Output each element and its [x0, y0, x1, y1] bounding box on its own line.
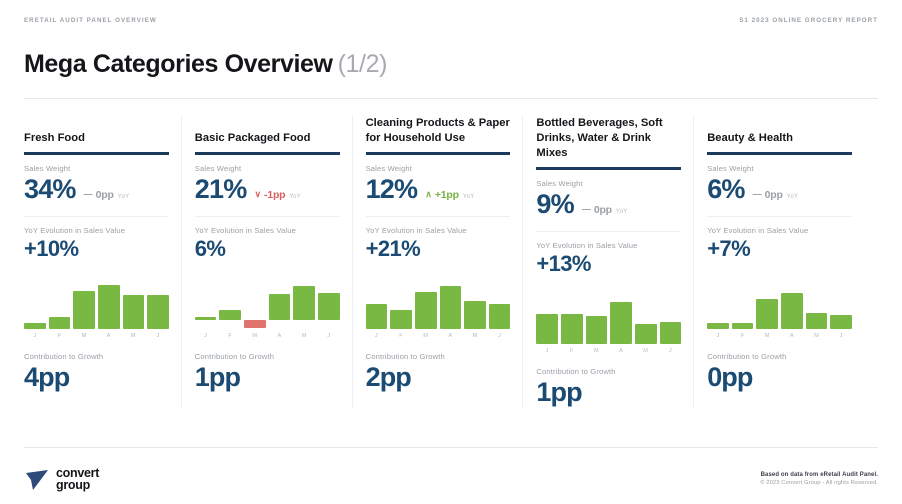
- bar-cell: [24, 281, 46, 329]
- sales-weight-label: Sales Weight: [24, 164, 169, 173]
- bar-cell: [269, 281, 291, 329]
- category-column-3: Bottled Beverages, Soft Drinks, Water & …: [536, 116, 707, 409]
- bar-F-1: [732, 323, 754, 329]
- bar-J-0: [195, 317, 217, 320]
- metric-divider: [536, 231, 681, 232]
- delta-yoy-tag: YoY: [118, 194, 130, 200]
- eyebrow-right: S1 2023 ONLINE GROCERY REPORT: [739, 17, 878, 24]
- contribution-label: Contribution to Growth: [24, 352, 169, 361]
- sales-weight-label: Sales Weight: [536, 179, 681, 188]
- delta-flat-icon: —: [84, 190, 93, 199]
- bar-M-4: [806, 313, 828, 329]
- page-title-block: Mega Categories Overview(1/2): [24, 26, 878, 99]
- copyright-note: © 2023 Convert Group - All rights Reserv…: [760, 480, 878, 486]
- bar-cell: [244, 281, 266, 329]
- contribution-value: 4pp: [24, 362, 169, 393]
- contribution-label: Contribution to Growth: [536, 367, 681, 376]
- axis-tick-5: J: [318, 333, 340, 339]
- axis-tick-2: M: [586, 348, 608, 354]
- monthly-sparkline-chart: JFMAMJ: [536, 296, 681, 358]
- bar-cell: [536, 296, 558, 344]
- contribution-value: 0pp: [707, 362, 852, 393]
- yoy-evolution-value: +21%: [366, 236, 511, 261]
- sales-weight-label: Sales Weight: [195, 164, 340, 173]
- month-axis-labels: JFMAMJ: [707, 333, 852, 339]
- axis-tick-2: M: [244, 333, 266, 339]
- page-title: Mega Categories Overview: [24, 50, 333, 78]
- bar-cell: [415, 281, 437, 329]
- delta-yoy-tag: YoY: [289, 194, 301, 200]
- yoy-evolution-label: YoY Evolution in Sales Value: [366, 226, 511, 235]
- delta-up-icon: ∧: [425, 190, 432, 199]
- bar-J-5: [318, 293, 340, 320]
- bar-cell: [293, 281, 315, 329]
- bar-cell: [390, 281, 412, 329]
- monthly-sparkline-chart: JFMAMJ: [195, 281, 340, 343]
- bar-M-2: [415, 292, 437, 330]
- bar-cell: [756, 281, 778, 329]
- category-underline: [24, 152, 169, 155]
- bar-group: [707, 281, 852, 329]
- sales-weight-value: 9%: [536, 190, 573, 220]
- delta-yoy-tag: YoY: [787, 194, 799, 200]
- bar-cell: [660, 296, 682, 344]
- axis-tick-3: A: [781, 333, 803, 339]
- metric-divider: [24, 216, 169, 217]
- category-column-0: Fresh FoodSales Weight34%—0ppYoYYoY Evol…: [24, 116, 195, 409]
- bar-cell: [781, 281, 803, 329]
- column-divider: [522, 116, 523, 409]
- yoy-evolution-value: +10%: [24, 236, 169, 261]
- yoy-evolution-value: +13%: [536, 251, 681, 276]
- footer-attribution: Based on data from eRetail Audit Panel. …: [760, 472, 878, 486]
- axis-tick-5: J: [660, 348, 682, 354]
- bar-cell: [73, 281, 95, 329]
- month-axis-labels: JFMAMJ: [536, 348, 681, 354]
- sales-weight-label: Sales Weight: [707, 164, 852, 173]
- bar-J-5: [660, 322, 682, 344]
- bar-F-1: [390, 310, 412, 330]
- category-title: Cleaning Products & Paper for Household …: [366, 116, 511, 146]
- title-divider: [24, 98, 878, 99]
- delta-value: +1pp: [435, 189, 459, 201]
- bar-M-4: [635, 324, 657, 344]
- axis-tick-1: F: [49, 333, 71, 339]
- sales-weight-delta: —0ppYoY: [753, 189, 799, 201]
- contribution-label: Contribution to Growth: [366, 352, 511, 361]
- bar-cell: [49, 281, 71, 329]
- axis-tick-4: M: [123, 333, 145, 339]
- bar-cell: [440, 281, 462, 329]
- category-underline: [707, 152, 852, 155]
- yoy-evolution-value: +7%: [707, 236, 852, 261]
- delta-yoy-tag: YoY: [616, 209, 628, 215]
- delta-value: -1pp: [264, 189, 285, 201]
- report-page: ERETAIL AUDIT PANEL OVERVIEW S1 2023 ONL…: [0, 0, 902, 504]
- bar-cell: [586, 296, 608, 344]
- bar-A-3: [440, 286, 462, 330]
- bar-F-1: [219, 310, 241, 320]
- page-title-pagination: (1/2): [338, 50, 387, 78]
- bar-M-4: [293, 286, 315, 320]
- sales-weight-value: 6%: [707, 175, 744, 205]
- yoy-evolution-label: YoY Evolution in Sales Value: [24, 226, 169, 235]
- axis-tick-2: M: [756, 333, 778, 339]
- bar-cell: [707, 281, 729, 329]
- bar-cell: [98, 281, 120, 329]
- sales-weight-row: 34%—0ppYoY: [24, 175, 169, 205]
- axis-tick-3: A: [610, 348, 632, 354]
- yoy-evolution-value: 6%: [195, 236, 340, 261]
- bar-cell: [123, 281, 145, 329]
- axis-tick-1: F: [561, 348, 583, 354]
- axis-tick-1: F: [390, 333, 412, 339]
- axis-tick-3: A: [440, 333, 462, 339]
- footer-divider: [24, 447, 878, 448]
- page-footer: convert group Based on data from eRetail…: [24, 466, 878, 492]
- convert-group-logo: convert group: [24, 466, 99, 492]
- category-underline: [536, 167, 681, 170]
- bar-cell: [732, 281, 754, 329]
- axis-tick-0: J: [366, 333, 388, 339]
- data-source-note: Based on data from eRetail Audit Panel.: [760, 472, 878, 478]
- bar-J-0: [536, 314, 558, 344]
- delta-value: 0pp: [594, 204, 612, 216]
- sales-weight-value: 21%: [195, 175, 247, 205]
- category-column-2: Cleaning Products & Paper for Household …: [366, 116, 537, 409]
- monthly-sparkline-chart: JFMAMJ: [707, 281, 852, 343]
- month-axis-labels: JFMAMJ: [366, 333, 511, 339]
- axis-tick-5: J: [489, 333, 511, 339]
- bar-J-0: [707, 323, 729, 329]
- column-divider: [693, 116, 694, 409]
- category-column-1: Basic Packaged FoodSales Weight21%∨-1ppY…: [195, 116, 366, 409]
- bar-group: [195, 281, 340, 329]
- axis-tick-4: M: [635, 348, 657, 354]
- month-axis-labels: JFMAMJ: [24, 333, 169, 339]
- category-title: Bottled Beverages, Soft Drinks, Water & …: [536, 116, 681, 161]
- bar-J-5: [489, 304, 511, 330]
- bar-M-2: [756, 299, 778, 329]
- bar-M-4: [123, 295, 145, 329]
- bar-M-2: [586, 316, 608, 344]
- category-columns: Fresh FoodSales Weight34%—0ppYoYYoY Evol…: [24, 116, 878, 409]
- bar-J-5: [830, 315, 852, 329]
- axis-tick-5: J: [830, 333, 852, 339]
- sales-weight-value: 34%: [24, 175, 76, 205]
- metric-divider: [366, 216, 511, 217]
- paper-plane-icon: [24, 466, 50, 492]
- category-underline: [366, 152, 511, 155]
- axis-tick-3: A: [98, 333, 120, 339]
- bar-cell: [219, 281, 241, 329]
- bar-A-3: [98, 285, 120, 329]
- yoy-evolution-label: YoY Evolution in Sales Value: [195, 226, 340, 235]
- bar-cell: [366, 281, 388, 329]
- category-title: Basic Packaged Food: [195, 116, 340, 146]
- bar-A-3: [610, 302, 632, 344]
- axis-tick-3: A: [269, 333, 291, 339]
- bar-group: [24, 281, 169, 329]
- bar-cell: [830, 281, 852, 329]
- contribution-value: 1pp: [536, 377, 681, 408]
- logo-line-2: group: [56, 479, 99, 492]
- axis-tick-0: J: [536, 348, 558, 354]
- sales-weight-delta: —0ppYoY: [84, 189, 130, 201]
- sales-weight-row: 12%∧+1ppYoY: [366, 175, 511, 205]
- bar-group: [366, 281, 511, 329]
- contribution-value: 1pp: [195, 362, 340, 393]
- bar-cell: [806, 281, 828, 329]
- yoy-evolution-label: YoY Evolution in Sales Value: [707, 226, 852, 235]
- axis-tick-0: J: [195, 333, 217, 339]
- category-title: Fresh Food: [24, 116, 169, 146]
- bar-A-3: [269, 294, 291, 320]
- contribution-label: Contribution to Growth: [195, 352, 340, 361]
- bar-F-1: [561, 314, 583, 344]
- eyebrow-left: ERETAIL AUDIT PANEL OVERVIEW: [24, 17, 157, 24]
- column-divider: [181, 116, 182, 409]
- sales-weight-label: Sales Weight: [366, 164, 511, 173]
- axis-tick-4: M: [464, 333, 486, 339]
- bar-M-4: [464, 301, 486, 330]
- bar-cell: [610, 296, 632, 344]
- bar-cell: [489, 281, 511, 329]
- metric-divider: [195, 216, 340, 217]
- delta-flat-icon: —: [753, 190, 762, 199]
- axis-tick-4: M: [806, 333, 828, 339]
- axis-tick-1: F: [732, 333, 754, 339]
- delta-down-icon: ∨: [254, 190, 261, 199]
- bar-J-5: [147, 295, 169, 329]
- bar-cell: [635, 296, 657, 344]
- bar-cell: [147, 281, 169, 329]
- category-column-4: Beauty & HealthSales Weight6%—0ppYoYYoY …: [707, 116, 878, 409]
- category-title: Beauty & Health: [707, 116, 852, 146]
- category-underline: [195, 152, 340, 155]
- axis-tick-0: J: [707, 333, 729, 339]
- top-meta-bar: ERETAIL AUDIT PANEL OVERVIEW S1 2023 ONL…: [24, 0, 878, 26]
- axis-tick-5: J: [147, 333, 169, 339]
- bar-cell: [318, 281, 340, 329]
- logo-wordmark: convert group: [56, 467, 99, 492]
- metric-divider: [707, 216, 852, 217]
- contribution-value: 2pp: [366, 362, 511, 393]
- bar-J-0: [366, 304, 388, 330]
- sales-weight-value: 12%: [366, 175, 418, 205]
- delta-value: 0pp: [96, 189, 114, 201]
- sales-weight-delta: ∨-1ppYoY: [254, 189, 301, 201]
- sales-weight-delta: ∧+1ppYoY: [425, 189, 474, 201]
- bar-group: [536, 296, 681, 344]
- bar-A-3: [781, 293, 803, 329]
- bar-M-2: [244, 320, 266, 328]
- sales-weight-row: 9%—0ppYoY: [536, 190, 681, 220]
- column-divider: [352, 116, 353, 409]
- sales-weight-delta: —0ppYoY: [582, 204, 628, 216]
- sales-weight-row: 21%∨-1ppYoY: [195, 175, 340, 205]
- axis-tick-1: F: [219, 333, 241, 339]
- delta-value: 0pp: [765, 189, 783, 201]
- bar-cell: [561, 296, 583, 344]
- bar-F-1: [49, 317, 71, 329]
- monthly-sparkline-chart: JFMAMJ: [366, 281, 511, 343]
- bar-M-2: [73, 291, 95, 329]
- sales-weight-row: 6%—0ppYoY: [707, 175, 852, 205]
- contribution-label: Contribution to Growth: [707, 352, 852, 361]
- bar-J-0: [24, 323, 46, 329]
- axis-tick-2: M: [73, 333, 95, 339]
- bar-cell: [464, 281, 486, 329]
- bar-cell: [195, 281, 217, 329]
- axis-tick-2: M: [415, 333, 437, 339]
- delta-flat-icon: —: [582, 205, 591, 214]
- monthly-sparkline-chart: JFMAMJ: [24, 281, 169, 343]
- yoy-evolution-label: YoY Evolution in Sales Value: [536, 241, 681, 250]
- axis-tick-0: J: [24, 333, 46, 339]
- delta-yoy-tag: YoY: [463, 194, 475, 200]
- month-axis-labels: JFMAMJ: [195, 333, 340, 339]
- axis-tick-4: M: [293, 333, 315, 339]
